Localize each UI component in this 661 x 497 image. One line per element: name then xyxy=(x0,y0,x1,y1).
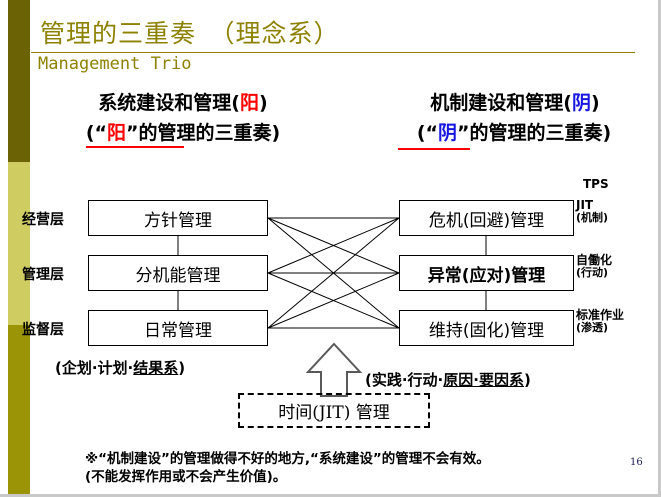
box-left-daily-management[interactable]: 日常管理 xyxy=(88,310,268,346)
footnote-line2: (不能发挥作用或不会产生价值)。 xyxy=(85,468,490,486)
heading-right-underline xyxy=(398,148,470,150)
annotation-left-underlined: 结果系 xyxy=(133,359,178,377)
heading-right-line1-mark: 阴 xyxy=(572,92,591,114)
heading-right-line1-pre: 机制建设和管理( xyxy=(430,92,572,114)
heading-left-line2-pre: (“ xyxy=(86,122,107,144)
note-jidoka: 自働化 (行动) xyxy=(576,254,612,278)
annotation-right: (实践·行动·原因·要因系) xyxy=(365,369,531,390)
layer-label-supervision: 监督层 xyxy=(22,319,64,339)
heading-left-line1-pre: 系统建设和管理( xyxy=(98,92,240,114)
note-standard-work-sub: (渗透) xyxy=(576,322,624,334)
note-jit-sub: (机制) xyxy=(576,212,608,224)
layer-label-management: 经营层 xyxy=(22,209,64,229)
heading-left-line1-post: ) xyxy=(259,92,268,114)
note-jit: JIT (机制) xyxy=(576,199,608,223)
box-left-functional-management[interactable]: 分机能管理 xyxy=(88,255,268,291)
slide-canvas: 管理的三重奏 （理念系） Management Trio 系统建设和管理(阳) … xyxy=(0,0,661,497)
heading-right-line2-mark: 阴 xyxy=(438,122,457,144)
box-time-jit-management[interactable]: 时间(JIT) 管理 xyxy=(238,393,430,428)
annotation-right-plain: (实践·行动· xyxy=(365,371,443,389)
page-subtitle-english: Management Trio xyxy=(38,54,192,74)
note-standard-work: 标准作业 (渗透) xyxy=(576,309,624,333)
heading-right-line2: (“阴”的管理的三重奏) xyxy=(385,118,643,145)
page-number: 16 xyxy=(630,457,643,468)
note-jidoka-main: 自働化 xyxy=(576,254,612,267)
annotation-left-plain: (企划·计划· xyxy=(55,359,133,377)
heading-left-underline xyxy=(86,146,184,148)
annotation-right-tail: ) xyxy=(524,371,531,389)
box-left-policy-management[interactable]: 方针管理 xyxy=(88,200,268,236)
heading-left-line2-post: ”的管理的三重奏) xyxy=(126,122,280,144)
heading-right-line2-post: ”的管理的三重奏) xyxy=(457,122,611,144)
heading-right-line1-post: ) xyxy=(591,92,600,114)
footnote-line1: ※“机制建设”的管理做得不好的地方,“系统建设”的管理不会有效。 xyxy=(85,450,490,468)
annotation-right-underlined: 原因·要因系 xyxy=(443,371,524,389)
heading-left-line1-mark: 阳 xyxy=(240,92,259,114)
sidebar-accent-middle xyxy=(8,162,30,325)
note-tps: TPS xyxy=(583,178,609,191)
page-title: 管理的三重奏 （理念系） xyxy=(40,14,340,50)
sidebar-accent-top xyxy=(8,0,30,162)
layer-label-administration: 管理层 xyxy=(22,264,64,284)
box-right-abnormality-management[interactable]: 异常(应对)管理 xyxy=(399,255,574,291)
heading-right-line1: 机制建设和管理(阴) xyxy=(395,88,635,115)
sidebar-accent-bottom xyxy=(8,325,30,497)
box-right-maintenance-management[interactable]: 维持(固化)管理 xyxy=(399,310,574,346)
annotation-left-tail: ) xyxy=(178,359,185,377)
heading-left-line1: 系统建设和管理(阳) xyxy=(48,88,318,115)
note-standard-work-main: 标准作业 xyxy=(576,309,624,322)
note-jit-main: JIT xyxy=(576,199,608,212)
note-jidoka-sub: (行动) xyxy=(576,267,612,279)
footnote: ※“机制建设”的管理做得不好的地方,“系统建设”的管理不会有效。 (不能发挥作用… xyxy=(85,450,490,486)
annotation-left: (企划·计划·结果系) xyxy=(55,357,185,378)
up-arrow-icon xyxy=(308,344,360,396)
title-divider xyxy=(31,52,635,53)
heading-right-line2-pre: (“ xyxy=(417,122,438,144)
heading-left-line2: (“阳”的管理的三重奏) xyxy=(40,118,326,145)
heading-left-line2-mark: 阳 xyxy=(107,122,126,144)
box-right-crisis-management[interactable]: 危机(回避)管理 xyxy=(399,200,574,236)
